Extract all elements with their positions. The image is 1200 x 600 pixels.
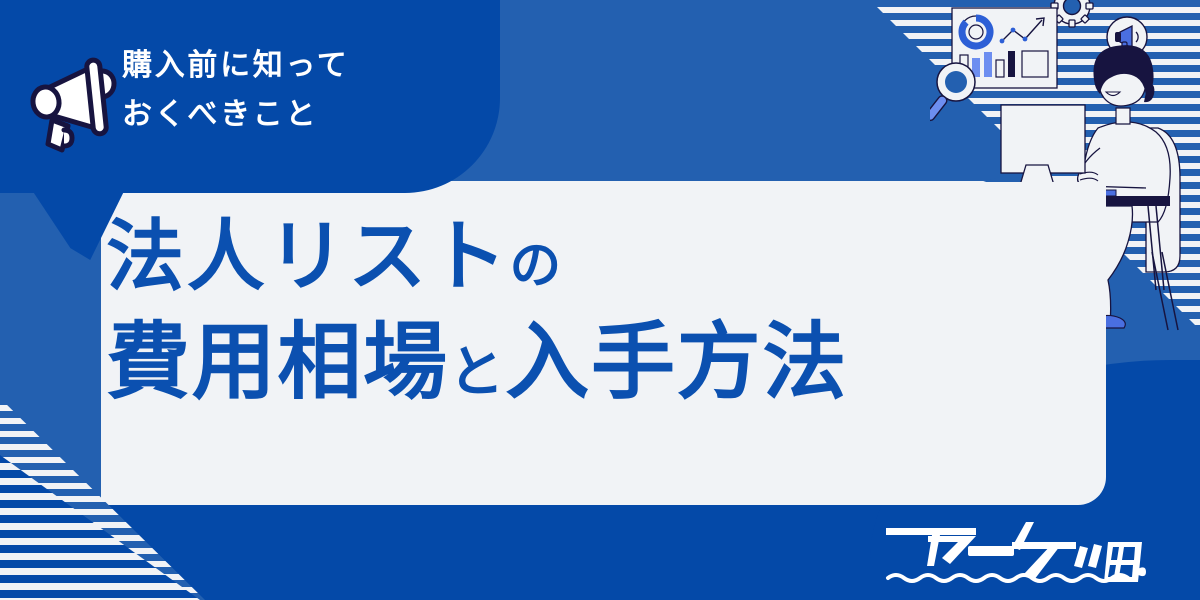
marke-hatake-logo[interactable] xyxy=(884,520,1146,588)
headline-line-2: 費用相場と入手方法 xyxy=(106,314,1106,411)
headline-line2-main: 費用相場 xyxy=(106,314,449,411)
page-title: 法人リストの 費用相場と入手方法 xyxy=(106,212,1106,412)
headline-line2-particle: と xyxy=(449,341,506,405)
megaphone-icon xyxy=(24,44,136,156)
headline-line1-particle: の xyxy=(510,237,563,297)
speech-bubble-line-2: おくべきこと xyxy=(122,91,472,140)
headline-line1-main: 法人リスト xyxy=(106,212,510,302)
headline-line2-main2: 入手方法 xyxy=(505,314,848,411)
magnifier-icon xyxy=(930,63,975,122)
headline-line-1: 法人リストの xyxy=(106,212,1106,302)
speech-bubble: 購入前に知って おくべきこと xyxy=(0,0,500,193)
speech-bubble-line-1: 購入前に知って xyxy=(122,42,472,91)
speech-bubble-text: 購入前に知って おくべきこと xyxy=(122,42,472,139)
banner-canvas: 法人リストの 費用相場と入手方法 購入前に知って おくべきこと xyxy=(0,0,1200,600)
